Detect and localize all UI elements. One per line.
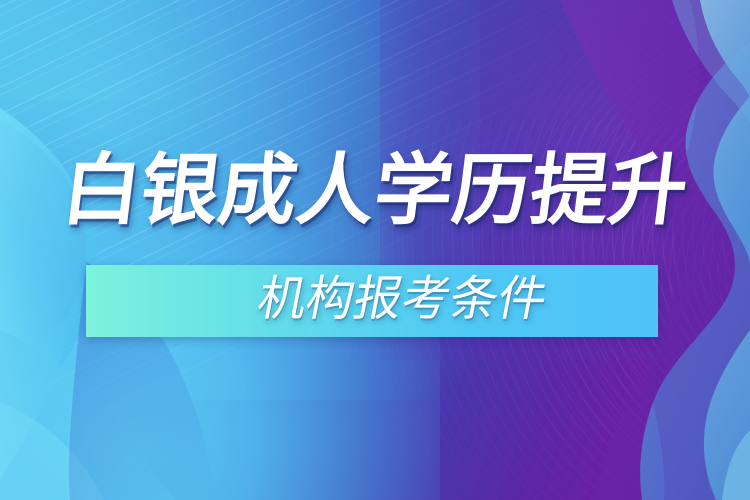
headline-text: 白银成人学历提升: [58, 152, 692, 230]
promo-banner: 白银成人学历提升 机构报考条件: [0, 0, 750, 500]
decorative-wave-layers: [0, 0, 750, 500]
headline: 白银成人学历提升: [0, 152, 750, 230]
subtitle-band: 机构报考条件: [86, 265, 658, 337]
subtitle-text: 机构报考条件: [253, 275, 663, 327]
